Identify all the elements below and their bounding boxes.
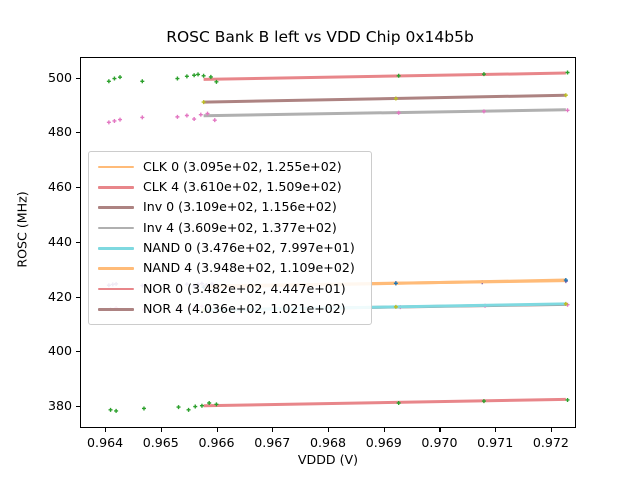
x-tick-mark (439, 428, 440, 432)
x-tick-mark (272, 428, 273, 432)
data-point (107, 79, 111, 83)
data-point (199, 113, 203, 117)
data-point (185, 113, 189, 117)
x-tick-label: 0.970 (409, 435, 469, 450)
fit-line (204, 95, 566, 102)
legend-color-swatch (98, 166, 134, 169)
data-point (112, 77, 116, 81)
legend-label: NOR 0 (3.482e+02, 4.447e+01) (143, 283, 346, 296)
series-nor-4 (202, 93, 568, 104)
fit-line (204, 73, 566, 79)
data-point (192, 73, 196, 77)
data-point (200, 404, 204, 408)
legend-color-swatch (98, 267, 134, 270)
data-point (566, 108, 570, 112)
data-point (213, 118, 217, 122)
y-tick-label: 400 (6, 343, 72, 358)
legend-item: Inv 4 (3.609e+02, 1.377e+02) (96, 218, 365, 238)
x-tick-label: 0.967 (242, 435, 302, 450)
x-tick-mark (105, 428, 106, 432)
x-tick-label: 0.971 (465, 435, 525, 450)
y-tick-label: 380 (6, 398, 72, 413)
data-point (187, 408, 191, 412)
legend-item: NOR 0 (3.482e+02, 4.447e+01) (96, 279, 365, 299)
data-point (142, 406, 146, 410)
series-nor-0 (109, 398, 570, 413)
data-point (185, 74, 189, 78)
legend-label: Inv 0 (3.109e+02, 1.156e+02) (143, 201, 337, 214)
legend-label: CLK 0 (3.095e+02, 1.255e+02) (143, 161, 342, 174)
legend-color-swatch (98, 206, 134, 209)
matplotlib-figure: ROSC Bank B left vs VDD Chip 0x14b5b 380… (0, 0, 640, 480)
data-point (118, 118, 122, 122)
data-point (193, 405, 197, 409)
data-point (118, 75, 122, 79)
legend-item: CLK 4 (3.610e+02, 1.509e+02) (96, 177, 365, 197)
x-tick-mark (217, 428, 218, 432)
data-point (114, 409, 118, 413)
legend-color-swatch (98, 308, 134, 311)
x-axis-tick-labels: 0.9640.9650.9660.9670.9680.9690.9700.971… (0, 433, 640, 453)
data-point (140, 115, 144, 119)
chart-legend: CLK 0 (3.095e+02, 1.255e+02)CLK 4 (3.610… (88, 151, 372, 325)
legend-item: Inv 0 (3.109e+02, 1.156e+02) (96, 198, 365, 218)
x-tick-label: 0.966 (187, 435, 247, 450)
y-axis-tick-labels: 380400420440460480500 (0, 0, 72, 480)
y-tick-label: 500 (6, 70, 72, 85)
series-inv-4 (107, 108, 570, 124)
data-point (192, 117, 196, 121)
data-point (202, 74, 206, 78)
data-point (566, 71, 570, 75)
legend-label: NAND 0 (3.476e+02, 7.997e+01) (143, 242, 355, 255)
x-tick-label: 0.968 (298, 435, 358, 450)
data-point (177, 405, 181, 409)
x-tick-label: 0.964 (75, 435, 135, 450)
x-tick-mark (161, 428, 162, 432)
x-axis-label: VDDD (V) (80, 452, 576, 467)
x-tick-mark (495, 428, 496, 432)
x-tick-label: 0.972 (521, 435, 581, 450)
x-tick-mark (551, 428, 552, 432)
x-tick-label: 0.969 (354, 435, 414, 450)
legend-label: CLK 4 (3.610e+02, 1.509e+02) (143, 181, 342, 194)
legend-item: CLK 0 (3.095e+02, 1.255e+02) (96, 157, 365, 177)
x-tick-mark (384, 428, 385, 432)
chart-title: ROSC Bank B left vs VDD Chip 0x14b5b (0, 28, 640, 46)
data-point (107, 120, 111, 124)
data-point (112, 119, 116, 123)
legend-color-swatch (98, 247, 134, 250)
legend-color-swatch (98, 227, 134, 230)
data-point (140, 79, 144, 83)
y-axis-label: ROSC (MHz) (15, 130, 30, 330)
fit-line (204, 110, 566, 116)
data-point (566, 398, 570, 402)
data-point (196, 72, 200, 76)
fit-line (204, 399, 566, 405)
data-point (175, 77, 179, 81)
legend-item: NAND 4 (3.948e+02, 1.109e+02) (96, 258, 365, 278)
legend-color-swatch (98, 186, 134, 189)
legend-color-swatch (98, 288, 134, 291)
legend-label: Inv 4 (3.609e+02, 1.377e+02) (143, 222, 337, 235)
legend-label: NAND 4 (3.948e+02, 1.109e+02) (143, 262, 355, 275)
legend-label: NOR 4 (4.036e+02, 1.021e+02) (143, 303, 346, 316)
legend-item: NAND 0 (3.476e+02, 7.997e+01) (96, 238, 365, 258)
series-clk-4 (107, 71, 570, 84)
data-point (109, 408, 113, 412)
legend-item: NOR 4 (4.036e+02, 1.021e+02) (96, 299, 365, 319)
x-tick-label: 0.965 (131, 435, 191, 450)
x-tick-mark (328, 428, 329, 432)
data-point (175, 115, 179, 119)
